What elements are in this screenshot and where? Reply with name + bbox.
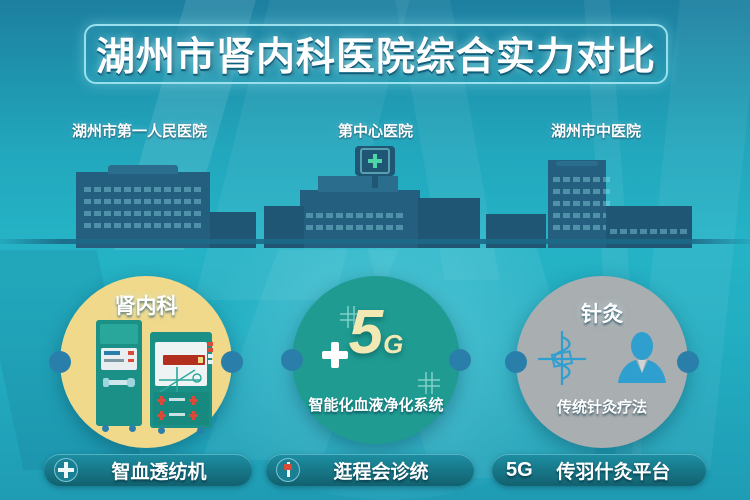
footer-pill-dialysis-label: 智血透纺机 xyxy=(78,457,252,484)
building-left-windows-r4 xyxy=(84,223,201,228)
machine-cross-icon-4 xyxy=(189,411,198,420)
footer-pill-dialysis[interactable]: 智血透纺机 xyxy=(44,454,252,486)
panel-blood-purification-subtitle: 智能化血液净化系统 xyxy=(292,394,460,415)
console-leg-left xyxy=(102,425,109,432)
dialysis-machine-icon xyxy=(150,332,212,428)
building-right-tower-windows-r1 xyxy=(553,177,610,182)
building-left-main xyxy=(76,172,210,248)
building-left-windows-r3 xyxy=(84,211,201,216)
footer-pill-teleconsultation[interactable]: 逛程会诊统 xyxy=(266,454,474,486)
building-left-roof xyxy=(108,165,178,174)
console-slider xyxy=(103,380,135,385)
panel-blood-purification[interactable]: 5G 智能化血液净化系统 xyxy=(292,276,460,444)
building-right-tower-windows-r3 xyxy=(553,201,610,206)
console-top-panel xyxy=(100,324,138,344)
patient-person-icon xyxy=(614,331,670,385)
skyline-ground-line xyxy=(0,239,750,244)
panel-acupuncture-subtitle: 传统针灸疗法 xyxy=(516,396,688,417)
connector-dot-left xyxy=(49,351,71,373)
machine-cross-icon-1 xyxy=(157,396,166,405)
machine-leg-left xyxy=(158,427,165,434)
panel-nephrology-title: 肾内科 xyxy=(60,290,232,320)
console-leg-right xyxy=(129,425,136,432)
machine-screen xyxy=(155,342,207,386)
hospital-label-3: 湖州市中医院 xyxy=(551,120,641,141)
panel-acupuncture-title: 针灸 xyxy=(516,298,688,328)
acupuncture-needle-icon xyxy=(534,329,590,387)
acupuncture-icon-group xyxy=(516,328,688,388)
machine-cross-icon-2 xyxy=(157,411,166,420)
medical-syringe-badge-icon xyxy=(276,458,300,482)
connector-dot-right xyxy=(221,351,243,373)
machine-lower-panel xyxy=(153,392,209,425)
dialysis-console-icon xyxy=(96,320,142,426)
machine-leg-right xyxy=(197,427,204,434)
machine-indicator-strip xyxy=(208,342,213,372)
hospital-label-2: 第中心医院 xyxy=(338,120,413,141)
hospital-sign-pole xyxy=(372,174,378,188)
five-g-suffix: G xyxy=(383,329,403,359)
five-g-number: 5 xyxy=(349,298,383,367)
machine-cross-icon-3 xyxy=(189,396,198,405)
machine-led-readout xyxy=(163,355,205,365)
hospital-sign-plate xyxy=(360,148,390,174)
page-title: 湖州市肾内科医院综合实力对比 xyxy=(96,26,656,82)
building-left-windows-r1 xyxy=(84,187,201,192)
panel-nephrology[interactable]: 肾内科 xyxy=(60,276,232,448)
console-display xyxy=(101,348,137,370)
medical-cross-badge-icon xyxy=(54,458,78,482)
building-right-tower-cap xyxy=(556,161,598,166)
footer-pill-teleconsultation-label: 逛程会诊统 xyxy=(300,457,474,484)
outline-plus-icon-2 xyxy=(418,372,440,394)
hospital-skyline-illustration xyxy=(0,148,750,248)
building-center-windows xyxy=(306,213,403,218)
hospital-label-1: 湖州市第一人民医院 xyxy=(72,120,207,141)
footer-pill-5g-platform[interactable]: 5G 传羽什灸平台 xyxy=(492,454,706,486)
page-title-box: 湖州市肾内科医院综合实力对比 xyxy=(84,24,668,84)
building-right-tower-windows-r4 xyxy=(553,213,610,218)
building-right-tower-windows-r2 xyxy=(553,189,610,194)
hospital-sign xyxy=(355,146,395,176)
building-right-tower-windows-r5 xyxy=(553,225,610,230)
footer-pill-5g-prefix: 5G xyxy=(506,459,533,482)
building-center-upper xyxy=(318,176,398,192)
footer-pill-5g-platform-label: 传羽什灸平台 xyxy=(533,457,706,484)
building-right-wide-windows xyxy=(610,229,687,234)
five-g-logo: 5G xyxy=(292,302,460,364)
building-left-windows-r2 xyxy=(84,199,201,204)
panel-acupuncture[interactable]: 针灸 传统针灸疗法 xyxy=(516,276,688,448)
infographic-canvas: 湖州市肾内科医院综合实力对比 湖州市第一人民医院 第中心医院 湖州市中医院 xyxy=(0,0,750,500)
medical-cross-icon xyxy=(368,154,382,168)
building-center-windows-2 xyxy=(306,225,403,230)
